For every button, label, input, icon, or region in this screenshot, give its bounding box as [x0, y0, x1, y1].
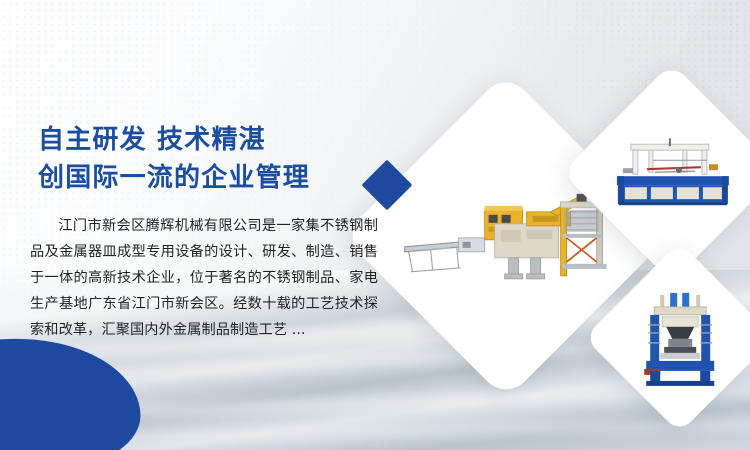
headline-line-1: 自主研发 技术精湛 [38, 125, 266, 155]
blue-hydraulic-press-machine-photo [640, 291, 720, 387]
company-intro-banner: 自主研发 技术精湛 创国际一流的企业管理 江门市新会区腾辉机械有限公司是一家集不… [0, 0, 750, 450]
page-title: 自主研发 技术精湛 创国际一流的企业管理 [38, 121, 310, 197]
company-description-text: 江门市新会区腾辉机械有限公司是一家集不锈钢制品及金属器皿成型专用设备的设计、研发… [30, 213, 378, 343]
headline-line-2: 创国际一流的企业管理 [38, 159, 310, 197]
blue-frame-forming-machine-photo [609, 136, 737, 210]
production-line-machine-photo [401, 184, 611, 289]
